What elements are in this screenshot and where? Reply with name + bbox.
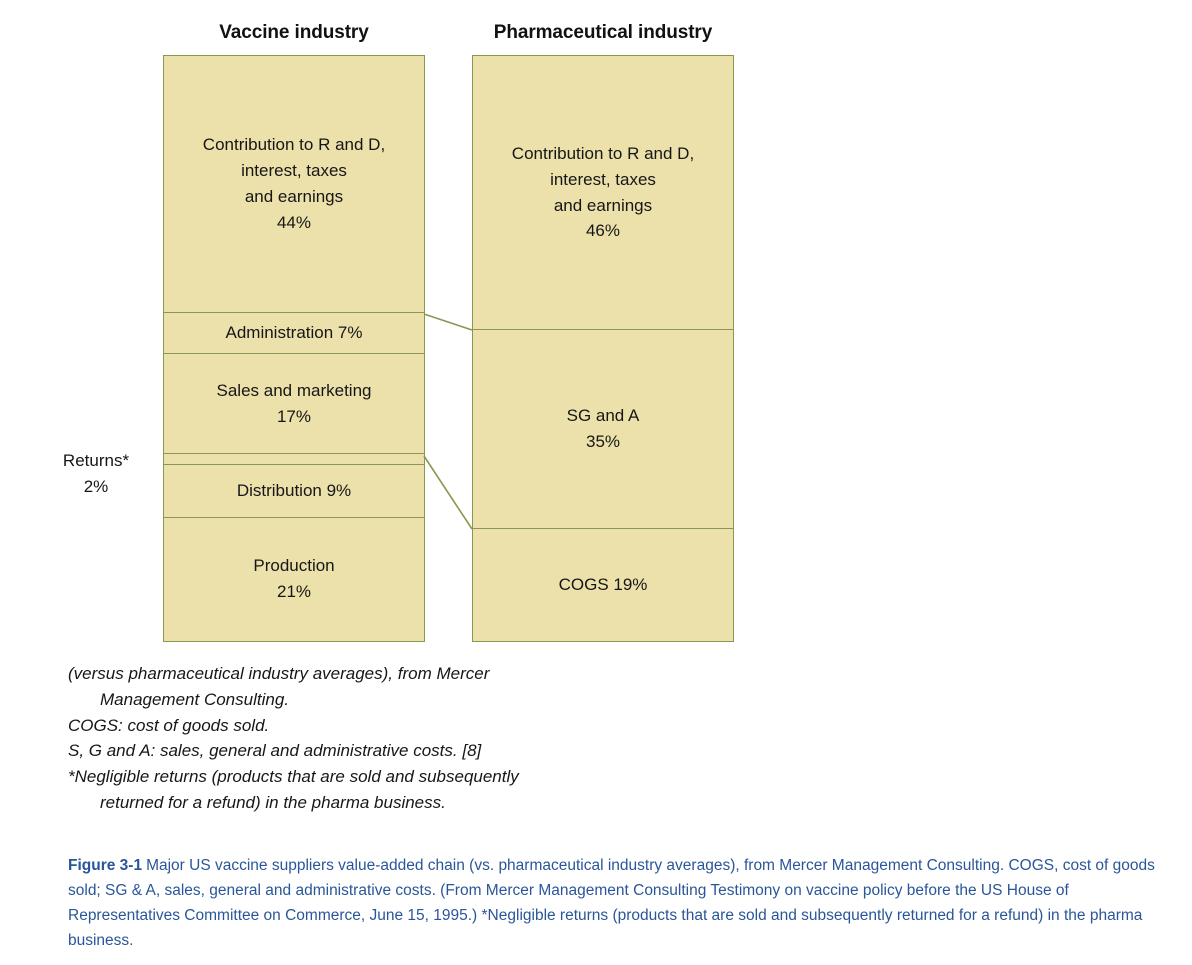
note-line-2: Management Consulting. <box>68 687 768 713</box>
stacked-bar-vaccine-industry: Contribution to R and D, interest, taxes… <box>163 55 425 642</box>
segment-label: Administration 7% <box>219 320 368 346</box>
segment-vaccine-contribution: Contribution to R and D, interest, taxes… <box>163 55 425 313</box>
segment-vaccine-administration: Administration 7% <box>163 312 425 355</box>
segment-label: Production 21% <box>247 553 340 605</box>
segment-pharma-cogs: COGS 19% <box>472 528 734 642</box>
segment-label: Sales and marketing 17% <box>211 378 378 430</box>
column-header-vaccine-industry: Vaccine industry <box>163 22 425 44</box>
returns-side-label: Returns* 2% <box>36 448 156 499</box>
segment-vaccine-distribution: Distribution 9% <box>163 464 425 518</box>
note-line-1: (versus pharmaceutical industry averages… <box>68 661 768 687</box>
segment-label: SG and A 35% <box>561 403 646 455</box>
column-header-pharmaceutical-industry: Pharmaceutical industry <box>472 22 734 44</box>
segment-vaccine-production: Production 21% <box>163 517 425 642</box>
segment-vaccine-sales-and-marketing: Sales and marketing 17% <box>163 353 425 454</box>
figure-caption-text: Major US vaccine suppliers value-added c… <box>68 857 1155 949</box>
segment-pharma-contribution: Contribution to R and D, interest, taxes… <box>472 55 734 330</box>
segment-label: COGS 19% <box>553 572 654 598</box>
segment-label: Contribution to R and D, interest, taxes… <box>197 132 391 235</box>
stacked-bar-pharmaceutical-industry: Contribution to R and D, interest, taxes… <box>472 55 734 642</box>
note-line-3: COGS: cost of goods sold. <box>68 713 768 739</box>
segment-label: Distribution 9% <box>231 478 357 504</box>
segment-label: Contribution to R and D, interest, taxes… <box>506 141 700 244</box>
note-line-4: S, G and A: sales, general and administr… <box>68 738 768 764</box>
figure-notes: (versus pharmaceutical industry averages… <box>68 661 768 816</box>
figure-area: Vaccine industry Pharmaceutical industry… <box>0 0 1192 838</box>
figure-caption: Figure 3-1Major US vaccine suppliers val… <box>68 853 1180 953</box>
segment-pharma-sg-and-a: SG and A 35% <box>472 329 734 530</box>
note-line-5: *Negligible returns (products that are s… <box>68 764 768 790</box>
note-line-6: returned for a refund) in the pharma bus… <box>68 790 768 816</box>
figure-caption-label: Figure 3-1 <box>68 857 142 874</box>
